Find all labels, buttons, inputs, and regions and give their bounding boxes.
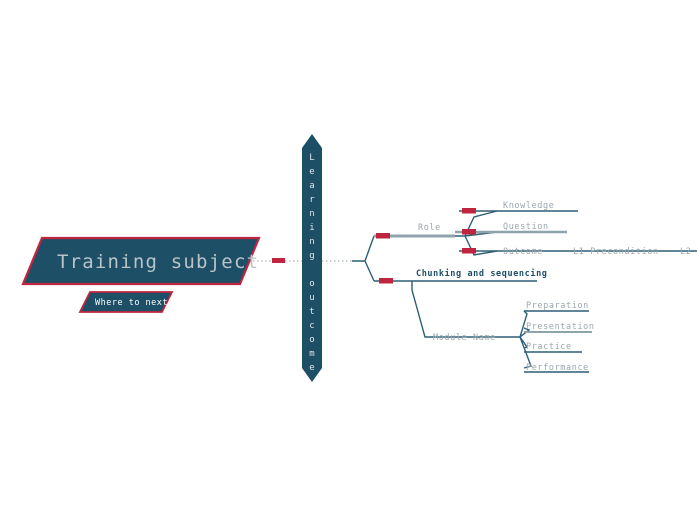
- branch-practice-label: Practice: [526, 342, 572, 352]
- branch-performance-label: Performance: [526, 363, 589, 373]
- center-letter: t: [309, 307, 314, 317]
- branch-performance[interactable]: Performance: [524, 363, 589, 373]
- branch-practice[interactable]: Practice: [524, 342, 582, 352]
- branch-l1-precondition-label: L1 Precondition: [573, 247, 659, 257]
- center-letter: i: [309, 223, 314, 233]
- branch-knowledge-marker: [462, 208, 476, 214]
- branch-l2-precondition-label: L2 P: [680, 247, 697, 257]
- center-letter: c: [309, 321, 314, 331]
- branch-module-name-label: Module Name: [433, 333, 496, 343]
- branch-preparation-label: Preparation: [526, 301, 589, 311]
- center-letter: o: [309, 335, 314, 345]
- fork-module-children: [510, 311, 531, 368]
- center-letter: g: [309, 251, 314, 261]
- branch-chunking-marker: [379, 278, 393, 284]
- center-letter: u: [309, 293, 314, 303]
- branch-question[interactable]: Question: [455, 222, 567, 235]
- center-letter: e: [309, 167, 314, 177]
- branch-presentation-label: Presentation: [526, 322, 595, 332]
- branch-role-label: Role: [418, 223, 441, 233]
- root-node-label: Training subject: [57, 251, 259, 273]
- where-to-next-label: Where to next?: [95, 298, 174, 308]
- branch-knowledge[interactable]: Knowledge: [459, 201, 578, 214]
- center-letter: n: [309, 237, 314, 247]
- center-letter: o: [309, 279, 314, 289]
- branch-outcome-label: Outcome: [503, 247, 543, 257]
- branch-preparation[interactable]: Preparation: [524, 301, 589, 311]
- connector-marker-root: [272, 258, 285, 263]
- branch-question-marker: [462, 229, 476, 235]
- branch-presentation[interactable]: Presentation: [524, 322, 595, 332]
- root-node[interactable]: Training subject: [23, 238, 259, 284]
- where-to-next-node[interactable]: Where to next?: [80, 292, 174, 312]
- center-letter: r: [309, 195, 315, 205]
- branch-question-label: Question: [503, 222, 549, 232]
- branch-chunking-label: Chunking and sequencing: [416, 268, 548, 279]
- center-letter: m: [309, 349, 314, 359]
- branch-role-marker: [376, 233, 390, 239]
- trunk-fork: [352, 236, 374, 281]
- mindmap-canvas: Training subject Where to next? L e a r …: [0, 0, 697, 520]
- branch-knowledge-label: Knowledge: [503, 201, 554, 211]
- branch-outcome-marker: [462, 248, 476, 254]
- branch-chunking[interactable]: Chunking and sequencing: [374, 268, 548, 284]
- center-letter: L: [309, 153, 314, 163]
- center-letter: a: [309, 181, 314, 191]
- center-letter: n: [309, 209, 314, 219]
- center-letter: e: [309, 363, 314, 373]
- branch-role[interactable]: Role: [374, 223, 455, 239]
- connector-chunking-to-module: [412, 281, 510, 337]
- center-node[interactable]: L e a r n i n g o u t c o m e: [302, 134, 322, 382]
